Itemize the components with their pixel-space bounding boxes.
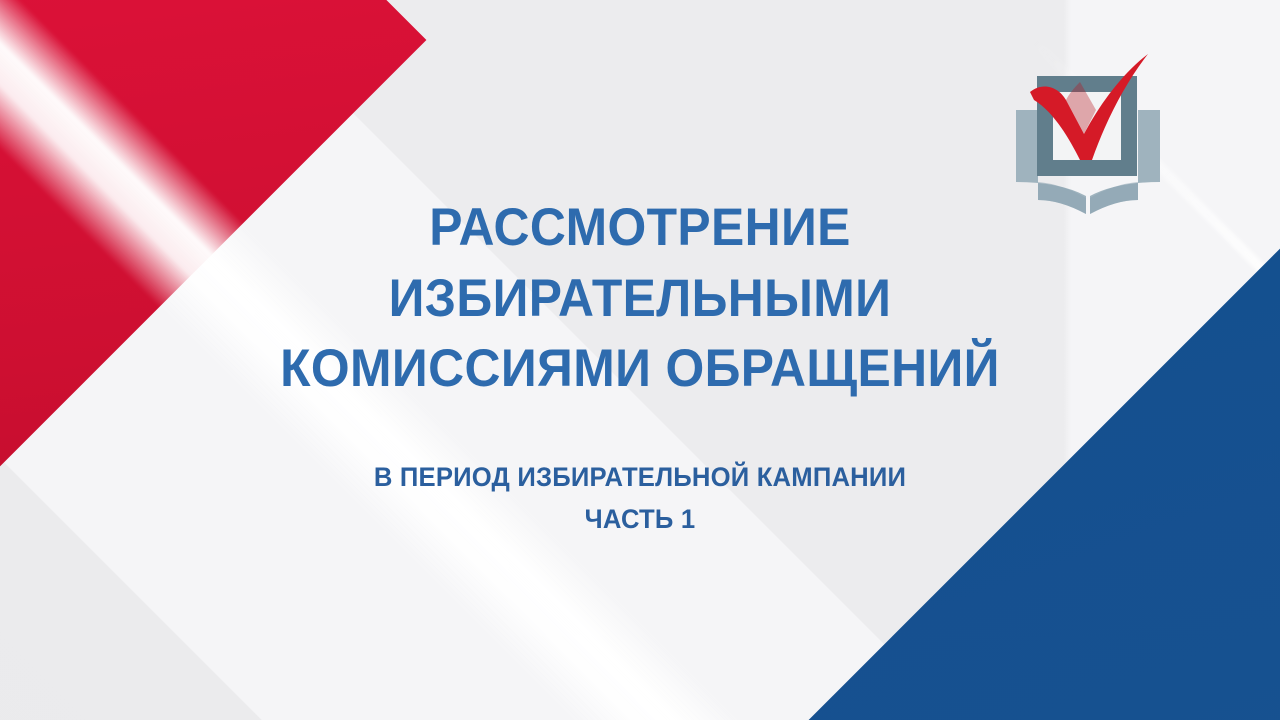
- subtitle-line-2: ЧАСТЬ 1: [213, 499, 1068, 541]
- slide-content: РАССМОТРЕНИЕ ИЗБИРАТЕЛЬНЫМИ КОМИССИЯМИ О…: [0, 0, 1280, 720]
- title-line-3: КОМИССИЯМИ ОБРАЩЕНИЙ: [217, 334, 1063, 404]
- subtitle-line-1: В ПЕРИОД ИЗБИРАТЕЛЬНОЙ КАМПАНИИ: [213, 457, 1068, 499]
- page-subtitle: В ПЕРИОД ИЗБИРАТЕЛЬНОЙ КАМПАНИИ ЧАСТЬ 1: [190, 457, 1090, 541]
- title-line-1: РАССМОТРЕНИЕ: [217, 193, 1063, 263]
- page-title: РАССМОТРЕНИЕ ИЗБИРАТЕЛЬНЫМИ КОМИССИЯМИ О…: [190, 193, 1090, 404]
- title-line-2: ИЗБИРАТЕЛЬНЫМИ: [217, 264, 1063, 334]
- presentation-slide: РАССМОТРЕНИЕ ИЗБИРАТЕЛЬНЫМИ КОМИССИЯМИ О…: [0, 0, 1280, 720]
